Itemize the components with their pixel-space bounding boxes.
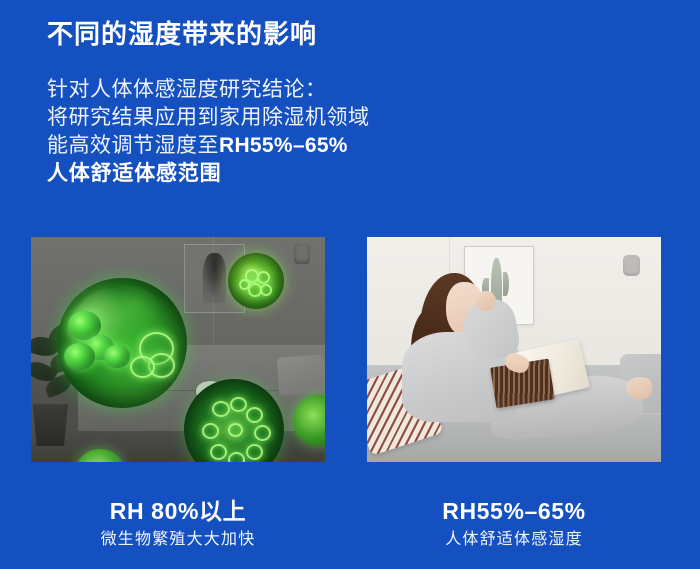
caption-sub-left: 微生物繁殖大大加快 [31, 528, 325, 552]
caption-main-left: RH 80%以上 [31, 498, 325, 525]
infographic-page: 不同的湿度带来的影响 针对人体体感湿度研究结论： 将研究结果应用到家用除湿机领域… [0, 0, 700, 569]
woman-foot [626, 377, 652, 400]
caption-comfort-humidity: RH55%–65% 人体舒适体感湿度 [367, 498, 661, 552]
intro-line-2: 将研究结果应用到家用除湿机领域 [47, 104, 370, 132]
photo-high-humidity [31, 237, 325, 462]
plant-pot [31, 404, 70, 446]
woman-reading [367, 237, 661, 462]
intro-paragraph: 针对人体体感湿度研究结论： 将研究结果应用到家用除湿机领域 能高效调节湿度至RH… [47, 76, 370, 188]
wall-speaker-icon [294, 244, 310, 264]
light-room-scene [367, 237, 661, 462]
dark-room-scene [31, 237, 325, 462]
caption-main-right: RH55%–65% [367, 498, 661, 525]
intro-line-3-highlight: RH55%–65% [219, 134, 348, 157]
photo-comfort-humidity [367, 237, 661, 462]
caption-high-humidity: RH 80%以上 微生物繁殖大大加快 [31, 498, 325, 552]
dark-sofa-cushion [277, 355, 325, 396]
germ-sphere-large [57, 278, 186, 409]
intro-line-3: 能高效调节湿度至RH55%–65% [47, 132, 370, 160]
caption-sub-right: 人体舒适体感湿度 [367, 528, 661, 552]
intro-line-4: 人体舒适体感范围 [47, 160, 370, 188]
germ-sphere-top-right [228, 253, 284, 309]
page-title: 不同的湿度带来的影响 [47, 18, 317, 51]
intro-line-3-prefix: 能高效调节湿度至 [47, 134, 219, 157]
intro-line-1: 针对人体体感湿度研究结论： [47, 76, 370, 104]
